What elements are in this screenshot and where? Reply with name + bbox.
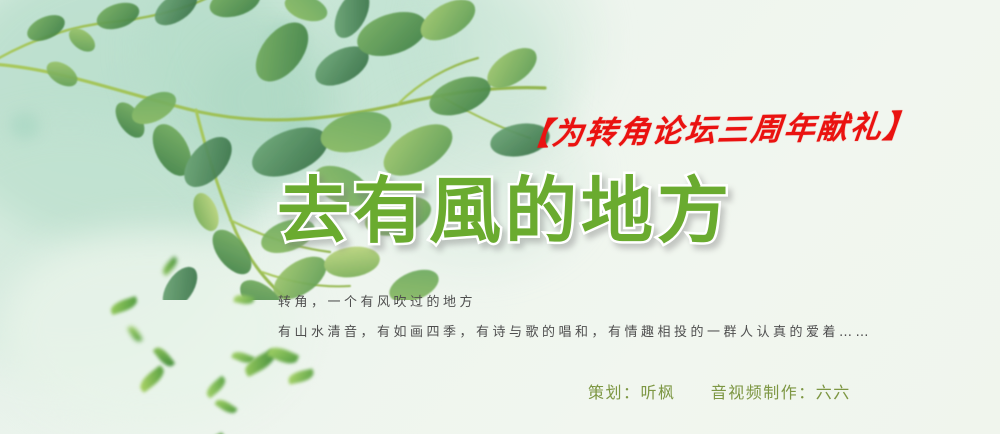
red-tagline: 【为转角论坛三周年献礼】 bbox=[517, 101, 903, 155]
watercolor-leaf-branch bbox=[0, 0, 560, 300]
banner-canvas: 【为转角论坛三周年献礼】 去有風的地方 转角，一个有风吹过的地方 有山水清音，有… bbox=[0, 0, 1000, 434]
body-copy: 转角，一个有风吹过的地方 有山水清音，有如画四季，有诗与歌的唱和，有情趣相投的一… bbox=[278, 288, 872, 348]
page-title: 去有風的地方 bbox=[277, 168, 733, 254]
credit-producer: 音视频制作：六六 bbox=[711, 383, 851, 402]
credits-line: 策划：听枫 音视频制作：六六 bbox=[588, 379, 851, 403]
body-copy-line-2: 有山水清音，有如画四季，有诗与歌的唱和，有情趣相投的一群人认真的爱着…… bbox=[278, 318, 872, 348]
credit-planner: 策划：听枫 bbox=[588, 383, 676, 402]
body-copy-line-1: 转角，一个有风吹过的地方 bbox=[278, 288, 872, 318]
